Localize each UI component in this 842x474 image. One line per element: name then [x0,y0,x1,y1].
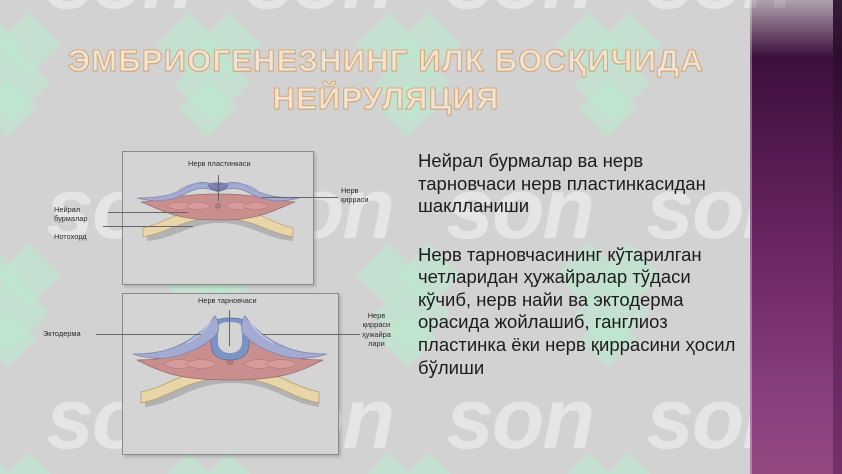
sidebar-edge [833,0,842,474]
watermark-logo-icon [166,462,262,474]
watermark-logo-icon [366,462,462,474]
decorative-purple-band [750,0,842,474]
sidebar-seam [750,0,752,474]
figure-top-label-neural-crest: Нерв қирраси [341,186,369,205]
neural-groove-stage-figure [122,293,339,455]
slide-title: ЭМБРИОГЕНЕЗНИНГ ИЛК БОСҚИЧИДА НЕЙРУЛЯЦИЯ [62,42,710,118]
presentation-slide: son son son son son son son son [0,0,842,474]
neural-plate-illustration [123,152,313,284]
watermark-logo-icon [566,462,662,474]
body-text-column: Нейрал бурмалар ва нерв тарновчаси нерв … [418,150,738,379]
leader-line-neural-folds [108,212,188,213]
watermark-text: son [246,0,393,22]
watermark-logo-icon [0,462,62,474]
figure-bottom-label-crest-cells: Нерв қирраси ҳужайра лари [362,311,391,349]
body-paragraph-2: Нерв тарновчасининг кўтарилган четларида… [418,244,738,379]
leader-line-neural-crest [261,197,338,198]
neural-plate-stage-figure [122,151,314,285]
leader-line-crest-cells [262,334,360,335]
figure-top-label-neural-folds: Нейрал бурмалар [54,205,88,224]
leader-line-neural-plate [218,175,219,201]
neural-groove-illustration [123,294,338,454]
watermark-logo-icon [0,252,62,362]
figure-bottom-label-neural-groove: Нерв тарновчаси [198,296,257,305]
leader-line-ectoderm [96,334,201,335]
watermark-text: son [446,376,593,462]
figure-bottom-label-ectoderm: Эктодерма [43,329,81,338]
leader-line-notochord [103,226,193,227]
watermark-text: son [446,0,593,22]
body-paragraph-1: Нейрал бурмалар ва нерв тарновчаси нерв … [418,150,738,218]
figure-top-label-notochord: Нотохорд [54,232,87,241]
leader-line-neural-groove [229,310,230,346]
watermark-logo-icon [0,22,62,132]
figure-top-label-neural-plate: Нерв пластинкаси [188,159,251,168]
watermark-text: son [46,0,193,22]
